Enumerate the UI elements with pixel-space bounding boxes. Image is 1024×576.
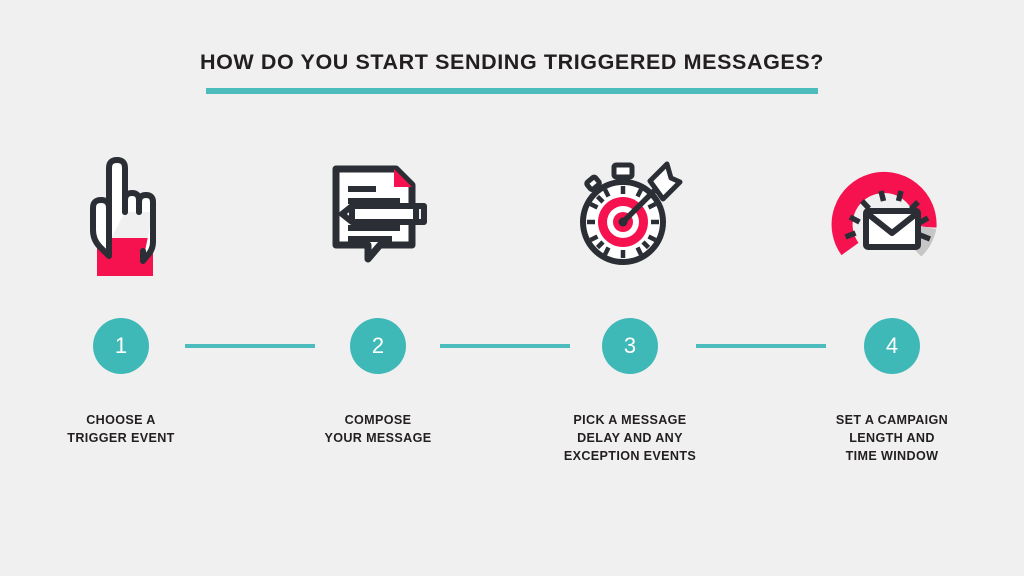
step-3-caption-line-2: DELAY AND ANY: [510, 430, 750, 448]
step-4-caption-line-1: SET A CAMPAIGN: [772, 412, 1012, 430]
step-3-caption: PICK A MESSAGE DELAY AND ANY EXCEPTION E…: [510, 412, 750, 466]
document-pencil-icon: [322, 159, 434, 271]
page-title: HOW DO YOU START SENDING TRIGGERED MESSA…: [0, 52, 1024, 74]
step-1-number-badge: 1: [93, 318, 149, 374]
step-1-caption-line-1: CHOOSE A: [1, 412, 241, 430]
step-1-caption-line-2: TRIGGER EVENT: [1, 430, 241, 448]
step-4-number-badge: 4: [864, 318, 920, 374]
step-4-caption: SET A CAMPAIGN LENGTH AND TIME WINDOW: [772, 412, 1012, 466]
step-4-icon-wrap: [764, 140, 1020, 290]
step-3-icon-wrap: [502, 140, 758, 290]
step-3: 3 PICK A MESSAGE DELAY AND ANY EXCEPTION…: [502, 140, 758, 500]
step-1-caption: CHOOSE A TRIGGER EVENT: [1, 412, 241, 448]
step-4-caption-line-3: TIME WINDOW: [772, 448, 1012, 466]
step-2-number-badge: 2: [350, 318, 406, 374]
step-3-caption-line-3: EXCEPTION EVENTS: [510, 448, 750, 466]
step-1-icon-wrap: [0, 140, 249, 290]
gauge-envelope-icon: [830, 159, 954, 271]
step-4: 4 SET A CAMPAIGN LENGTH AND TIME WINDOW: [764, 140, 1020, 500]
pointing-hand-icon: [76, 150, 166, 280]
steps-row: 1 CHOOSE A TRIGGER EVENT: [0, 140, 1024, 500]
step-3-number-badge: 3: [602, 318, 658, 374]
step-1: 1 CHOOSE A TRIGGER EVENT: [0, 140, 249, 500]
title-block: HOW DO YOU START SENDING TRIGGERED MESSA…: [0, 52, 1024, 94]
step-2: 2 COMPOSE YOUR MESSAGE: [250, 140, 506, 500]
title-underline-rule: [206, 88, 818, 94]
step-2-icon-wrap: [250, 140, 506, 290]
step-2-caption-line-1: COMPOSE: [258, 412, 498, 430]
step-2-caption-line-2: YOUR MESSAGE: [258, 430, 498, 448]
stopwatch-target-arrow-icon: [574, 159, 686, 271]
step-2-caption: COMPOSE YOUR MESSAGE: [258, 412, 498, 448]
step-3-caption-line-1: PICK A MESSAGE: [510, 412, 750, 430]
step-4-caption-line-2: LENGTH AND: [772, 430, 1012, 448]
